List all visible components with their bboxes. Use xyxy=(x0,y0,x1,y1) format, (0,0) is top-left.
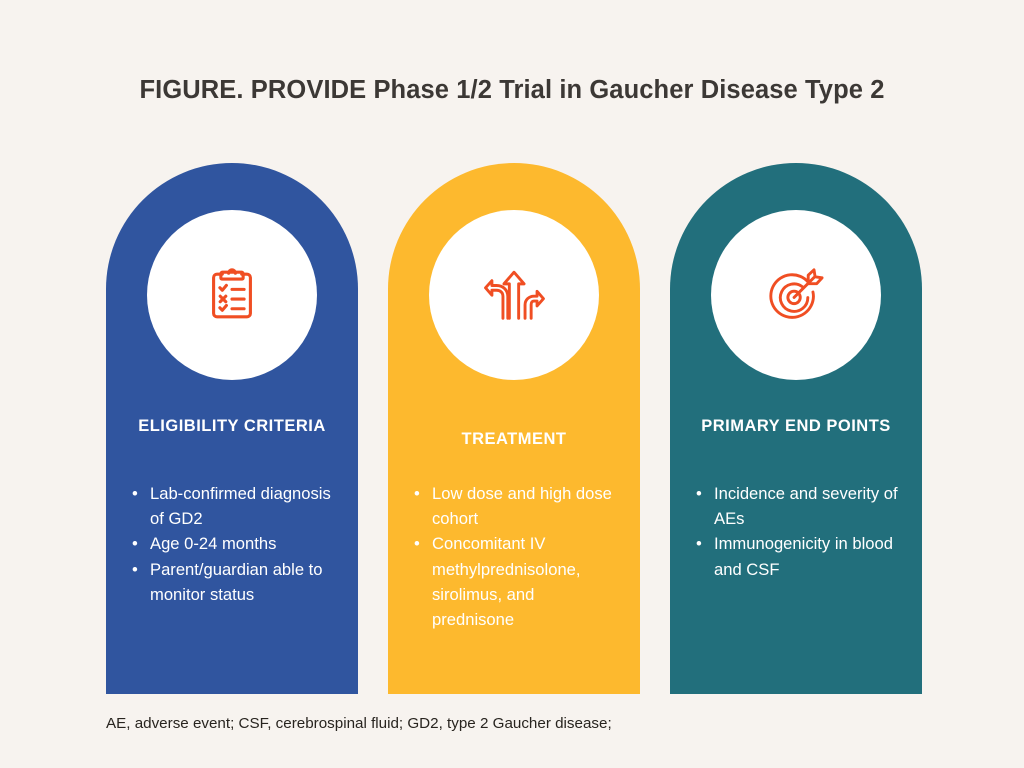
bullet-icon: • xyxy=(132,557,138,582)
list-item: •Parent/guardian able to monitor status xyxy=(130,557,336,607)
card-heading-treatment: TREATMENT xyxy=(388,428,640,450)
clipboard-checklist-icon xyxy=(201,264,263,326)
list-item: •Low dose and high dose cohort xyxy=(412,481,618,531)
card-list-primary-end-points: •Incidence and severity of AEs •Immunoge… xyxy=(670,481,922,582)
list-item-text: Incidence and severity of AEs xyxy=(714,484,898,528)
list-item: •Age 0-24 months xyxy=(130,531,336,556)
card-primary-end-points: PRIMARY END POINTS •Incidence and severi… xyxy=(670,163,922,694)
list-item: •Lab-confirmed diagnosis of GD2 xyxy=(130,481,336,531)
list-item: •Concomitant IV methylprednisolone, siro… xyxy=(412,531,618,632)
list-item: •Immunogenicity in blood and CSF xyxy=(694,531,900,581)
card-list-treatment: •Low dose and high dose cohort •Concomit… xyxy=(388,481,640,632)
card-treatment: TREATMENT •Low dose and high dose cohort… xyxy=(388,163,640,694)
target-arrow-icon xyxy=(765,264,827,326)
list-item: •Incidence and severity of AEs xyxy=(694,481,900,531)
bullet-icon: • xyxy=(696,481,702,506)
card-heading-eligibility: ELIGIBILITY CRITERIA xyxy=(106,415,358,437)
three-up-arrows-icon xyxy=(483,264,545,326)
figure-infographic: FIGURE. PROVIDE Phase 1/2 Trial in Gauch… xyxy=(0,0,1024,768)
card-eligibility-criteria: ELIGIBILITY CRITERIA •Lab-confirmed diag… xyxy=(106,163,358,694)
list-item-text: Lab-confirmed diagnosis of GD2 xyxy=(150,484,331,528)
bullet-icon: • xyxy=(696,531,702,556)
icon-circle-eligibility xyxy=(147,210,317,380)
list-item-text: Age 0-24 months xyxy=(150,534,276,553)
list-item-text: Concomitant IV methylprednisolone, sirol… xyxy=(432,534,581,629)
bullet-icon: • xyxy=(132,531,138,556)
list-item-text: Parent/guardian able to monitor status xyxy=(150,560,323,604)
page-title: FIGURE. PROVIDE Phase 1/2 Trial in Gauch… xyxy=(0,76,1024,105)
card-heading-primary-end-points: PRIMARY END POINTS xyxy=(670,415,922,437)
bullet-icon: • xyxy=(414,481,420,506)
icon-circle-primary-end-points xyxy=(711,210,881,380)
list-item-text: Immunogenicity in blood and CSF xyxy=(714,534,893,578)
list-item-text: Low dose and high dose cohort xyxy=(432,484,612,528)
bullet-icon: • xyxy=(414,531,420,556)
figure-footnote: AE, adverse event; CSF, cerebrospinal fl… xyxy=(106,715,612,732)
card-list-eligibility: •Lab-confirmed diagnosis of GD2 •Age 0-2… xyxy=(106,481,358,607)
bullet-icon: • xyxy=(132,481,138,506)
icon-circle-treatment xyxy=(429,210,599,380)
